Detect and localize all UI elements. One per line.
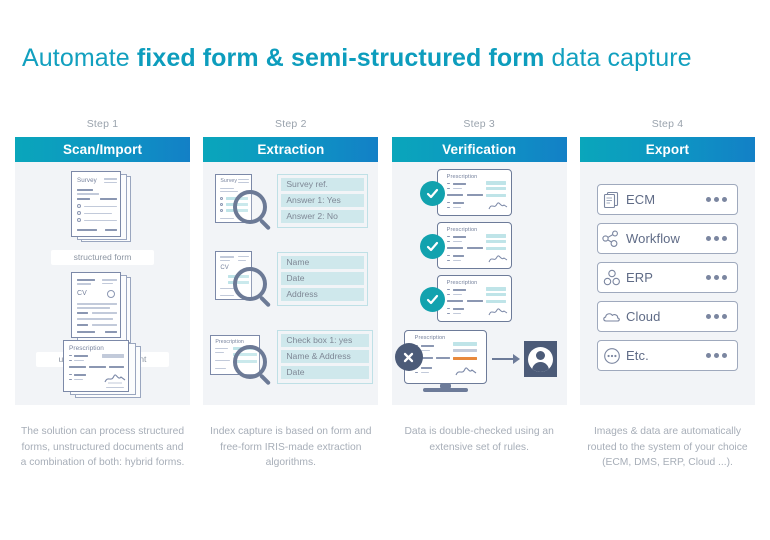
- document-survey: Survey: [67, 171, 142, 245]
- check-icon: [426, 187, 439, 200]
- panel-verification: Prescription: [392, 162, 567, 405]
- verified-card-3: Prescription: [437, 275, 512, 322]
- signature-icon: [455, 365, 477, 378]
- document-title: Prescription: [447, 227, 478, 233]
- export-label: Cloud: [626, 309, 706, 324]
- signature-icon: [488, 253, 508, 265]
- magnifier-icon-3: [233, 345, 281, 393]
- extracted-field: Date: [281, 272, 364, 285]
- signature-icon: [488, 200, 508, 212]
- options-ellipsis-icon[interactable]: [706, 197, 737, 202]
- caption-extraction: Index capture is based on form and free-…: [203, 424, 378, 471]
- extracted-field: Check box 1: yes: [281, 334, 369, 347]
- export-destination-etc[interactable]: Etc.: [597, 340, 738, 371]
- step-column-scan-import: Step 1 Scan/Import Survey: [15, 118, 190, 471]
- step-column-export: Step 4 Export ECM: [580, 118, 755, 471]
- extracted-field: Date: [281, 366, 369, 379]
- options-ellipsis-icon[interactable]: [706, 236, 737, 241]
- export-label: ERP: [626, 270, 706, 285]
- document-title: CV: [77, 290, 87, 297]
- export-destination-erp[interactable]: ERP: [597, 262, 738, 293]
- document-title: Prescription: [447, 174, 478, 180]
- document-title: Prescription: [415, 335, 446, 341]
- export-destination-cloud[interactable]: Cloud: [597, 301, 738, 332]
- sheet-front: Survey: [71, 171, 121, 237]
- extracted-field: Survey ref.: [281, 178, 364, 191]
- flow-arrow-head: [513, 354, 520, 364]
- options-ellipsis-icon[interactable]: [706, 353, 737, 358]
- export-label: ECM: [626, 192, 706, 207]
- extracted-fields-prescription: Check box 1: yes Name & Address Date: [277, 330, 373, 384]
- panel-extraction: Survey S: [203, 162, 378, 405]
- document-title: CV: [220, 265, 229, 271]
- check-icon: [426, 240, 439, 253]
- sheet-front: CV: [71, 272, 121, 338]
- error-highlight: [453, 357, 477, 360]
- panel-export: ECM Workflow: [580, 162, 755, 405]
- magnifier-icon-1: [233, 190, 281, 238]
- sheet-front: Prescription: [63, 340, 129, 392]
- document-label-structured-form: structured form: [51, 250, 154, 265]
- verified-badge-3: [420, 287, 445, 312]
- flow-arrow-line: [492, 358, 514, 360]
- step-number-2: Step 2: [203, 118, 378, 130]
- export-label: Workflow: [626, 231, 706, 246]
- step-number-4: Step 4: [580, 118, 755, 130]
- step-column-extraction: Step 2 Extraction Survey: [203, 118, 378, 471]
- extracted-field: Answer 2: No: [281, 210, 364, 223]
- page-title: Automate fixed form & semi-structured fo…: [22, 44, 692, 73]
- verified-card-1: Prescription: [437, 169, 512, 216]
- document-title: Prescription: [69, 345, 104, 352]
- monitor-stand-base: [423, 388, 468, 392]
- three-circles-icon: [598, 269, 626, 287]
- signature-icon: [104, 372, 126, 385]
- document-title: Survey: [77, 177, 97, 184]
- export-destination-workflow[interactable]: Workflow: [597, 223, 738, 254]
- panel-scan-import: Survey structured form: [15, 162, 190, 405]
- options-ellipsis-icon[interactable]: [706, 314, 737, 319]
- verified-card-2: Prescription: [437, 222, 512, 269]
- ellipsis-circle-icon: [598, 347, 626, 365]
- person-icon: [528, 347, 553, 372]
- verified-badge-2: [420, 234, 445, 259]
- export-label: Etc.: [626, 348, 706, 363]
- step-header-export[interactable]: Export: [580, 137, 755, 162]
- extracted-field: Name & Address: [281, 350, 369, 363]
- step-column-verification: Step 3 Verification Prescription: [392, 118, 567, 471]
- extracted-fields-cv: Name Date Address: [277, 252, 368, 306]
- title-prefix: Automate: [22, 44, 137, 72]
- step-header-scan-import[interactable]: Scan/Import: [15, 137, 190, 162]
- step-number-3: Step 3: [392, 118, 567, 130]
- document-title: Survey: [220, 178, 237, 184]
- check-icon: [426, 293, 439, 306]
- export-destination-ecm[interactable]: ECM: [597, 184, 738, 215]
- magnifier-icon-2: [233, 267, 281, 315]
- options-ellipsis-icon[interactable]: [706, 275, 737, 280]
- steps-container: Step 1 Scan/Import Survey: [0, 118, 770, 471]
- extracted-fields-survey: Survey ref. Answer 1: Yes Answer 2: No: [277, 174, 368, 228]
- step-header-extraction[interactable]: Extraction: [203, 137, 378, 162]
- caption-verification: Data is double-checked using an extensiv…: [392, 424, 567, 455]
- caption-export: Images & data are automatically routed t…: [580, 424, 755, 471]
- caption-scan-import: The solution can process structured form…: [15, 424, 190, 471]
- operator-avatar: [524, 341, 557, 377]
- signature-icon: [488, 306, 508, 318]
- title-emphasis: fixed form & semi-structured form: [137, 44, 545, 72]
- document-title: Prescription: [447, 280, 478, 286]
- extracted-field: Name: [281, 256, 364, 269]
- extracted-field: Answer 1: Yes: [281, 194, 364, 207]
- title-suffix: data capture: [544, 44, 691, 72]
- close-icon: [402, 351, 415, 364]
- error-badge: [395, 343, 423, 371]
- documents-stack-icon: [598, 191, 626, 209]
- step-header-verification[interactable]: Verification: [392, 137, 567, 162]
- workflow-nodes-icon: [598, 230, 626, 248]
- verified-badge-1: [420, 181, 445, 206]
- document-prescription: Prescription: [57, 340, 152, 400]
- extracted-field: Address: [281, 288, 364, 301]
- document-cv: CV: [67, 272, 142, 346]
- step-number-1: Step 1: [15, 118, 190, 130]
- cloud-icon: [598, 309, 626, 324]
